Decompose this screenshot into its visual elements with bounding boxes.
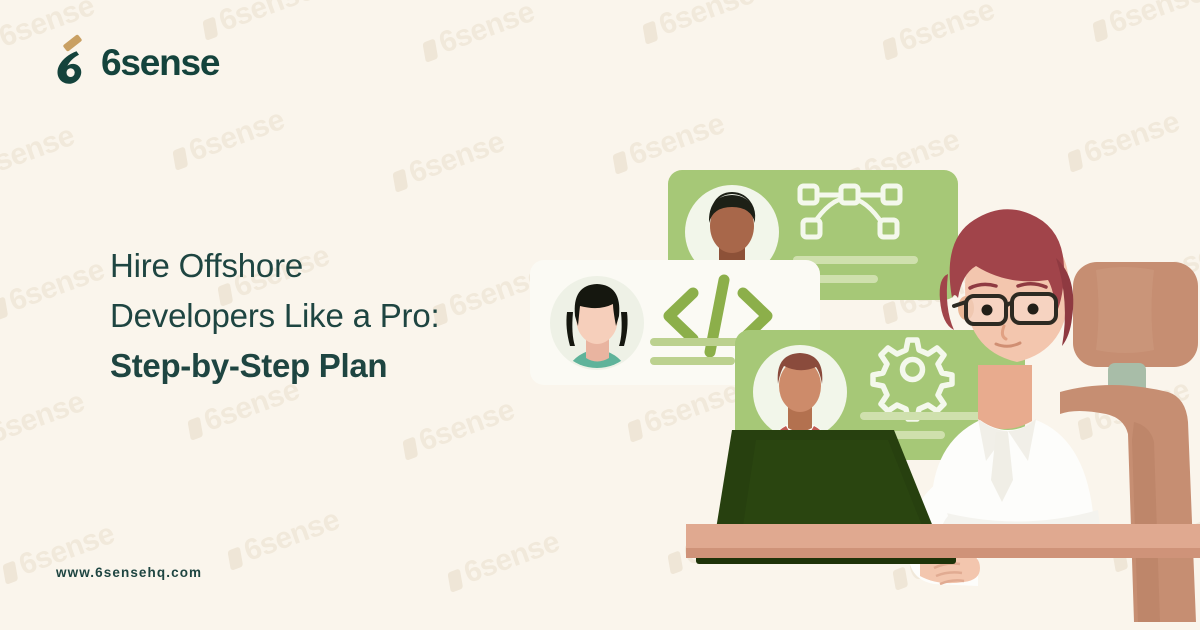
- watermark-mark-icon: [2, 560, 18, 584]
- brand-name: 6sense: [101, 44, 219, 81]
- watermark-tile: 6sense: [223, 503, 344, 575]
- logo-six-icon: [56, 50, 86, 84]
- watermark-mark-icon: [642, 20, 658, 44]
- watermark-tile: 6sense: [0, 253, 109, 325]
- watermark-mark-icon: [402, 436, 418, 460]
- watermark-mark-icon: [0, 296, 8, 320]
- watermark-mark-icon: [227, 546, 243, 570]
- glasses-icon: [954, 294, 1056, 324]
- page-title: Hire Offshore Developers Like a Pro: Ste…: [110, 241, 540, 391]
- brand-logo[interactable]: 6sense: [56, 38, 219, 86]
- website-url[interactable]: www.6sensehq.com: [56, 565, 202, 580]
- watermark-mark-icon: [422, 38, 438, 62]
- watermark-mark-icon: [172, 146, 188, 170]
- headline-line-1: Hire Offshore: [110, 241, 540, 291]
- offshore-developer-team-illustration: [500, 140, 1200, 630]
- watermark-tile: 6sense: [878, 0, 999, 65]
- watermark-tile: 6sense: [0, 119, 79, 191]
- headline-line-3: Step-by-Step Plan: [110, 341, 540, 391]
- watermark-mark-icon: [1092, 18, 1108, 42]
- headline-line-2: Developers Like a Pro:: [110, 291, 540, 341]
- watermark-tile: 6sense: [1088, 0, 1200, 47]
- 6sense-logo-icon: [56, 38, 90, 86]
- office-chair: [1060, 262, 1198, 622]
- card-bottom-line-1: [860, 412, 985, 420]
- card-middle-line-2: [650, 357, 735, 365]
- watermark-tile: 6sense: [388, 125, 509, 197]
- watermark-mark-icon: [882, 36, 898, 60]
- watermark-mark-icon: [447, 568, 463, 592]
- desk: [686, 524, 1200, 558]
- watermark-tile: 6sense: [0, 385, 89, 457]
- watermark-mark-icon: [392, 168, 408, 192]
- watermark-tile: 6sense: [638, 0, 759, 49]
- watermark-tile: 6sense: [168, 103, 289, 175]
- watermark-tile: 6sense: [418, 0, 539, 67]
- poster-canvas: 6sense 6sense 6sense 6sense 6sense 6sens…: [0, 0, 1200, 630]
- watermark-mark-icon: [187, 416, 203, 440]
